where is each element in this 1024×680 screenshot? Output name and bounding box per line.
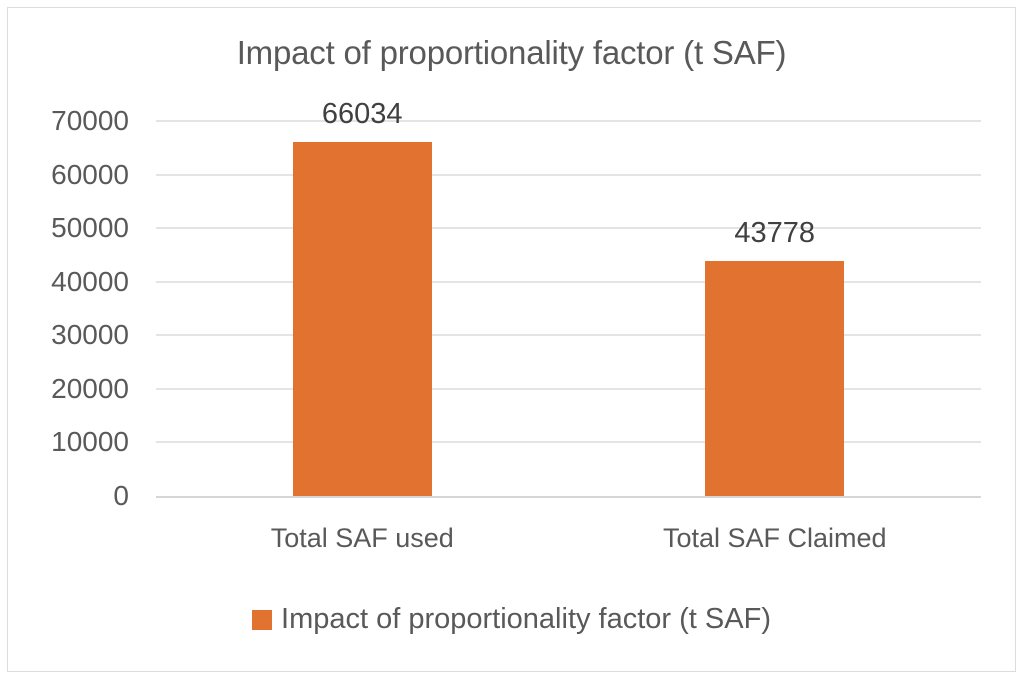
y-axis-tick-label: 10000 bbox=[51, 426, 129, 458]
legend-entry-label: Impact of proportionality factor (t SAF) bbox=[281, 603, 771, 636]
y-axis-tick-label: 50000 bbox=[51, 212, 129, 244]
x-axis: Total SAF usedTotal SAF Claimed bbox=[156, 523, 981, 567]
y-axis-tick-label: 0 bbox=[113, 480, 129, 512]
y-axis: 700006000050000400003000020000100000 bbox=[8, 121, 141, 496]
x-axis-tick-label: Total SAF Claimed bbox=[663, 523, 887, 554]
y-axis-tick-label: 70000 bbox=[51, 105, 129, 137]
bar[interactable] bbox=[705, 261, 844, 496]
y-axis-tick-label: 30000 bbox=[51, 319, 129, 351]
gridline bbox=[156, 227, 981, 229]
bar[interactable] bbox=[293, 142, 432, 496]
y-axis-tick-label: 40000 bbox=[51, 266, 129, 298]
gridline bbox=[156, 174, 981, 176]
gridline bbox=[156, 388, 981, 390]
legend-color-swatch-icon bbox=[252, 610, 272, 630]
x-axis-tick-label: Total SAF used bbox=[271, 523, 454, 554]
y-axis-tick-label: 60000 bbox=[51, 159, 129, 191]
plot-area: 6603443778 bbox=[156, 121, 981, 496]
gridline bbox=[156, 334, 981, 336]
chart-title: Impact of proportionality factor (t SAF) bbox=[8, 34, 1015, 72]
bar-value-label: 43778 bbox=[734, 217, 815, 250]
bar-value-label: 66034 bbox=[322, 98, 403, 131]
gridline bbox=[156, 120, 981, 122]
y-axis-tick-label: 20000 bbox=[51, 373, 129, 405]
gridline bbox=[156, 281, 981, 283]
chart-container: Impact of proportionality factor (t SAF)… bbox=[7, 7, 1016, 672]
x-axis-line bbox=[156, 496, 981, 498]
chart-legend: Impact of proportionality factor (t SAF) bbox=[8, 603, 1015, 636]
gridline bbox=[156, 441, 981, 443]
